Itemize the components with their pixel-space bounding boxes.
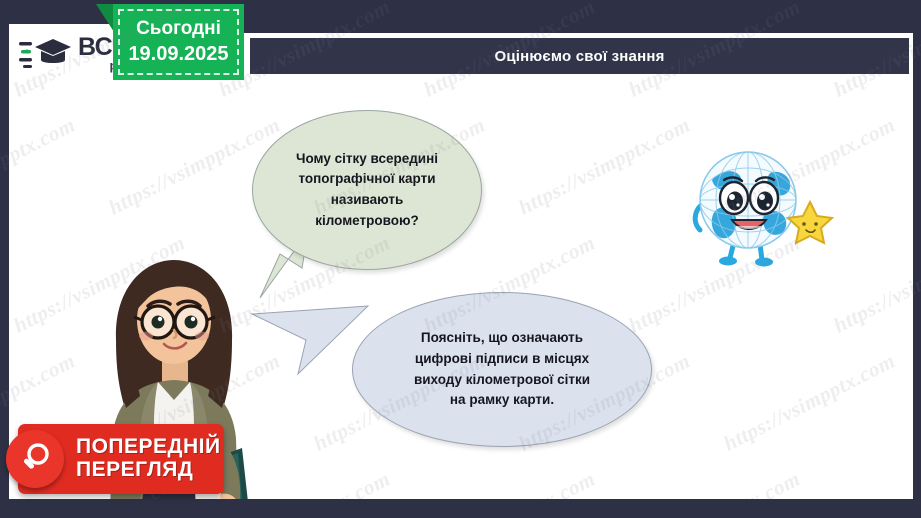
date-badge-value: 19.09.2025 — [128, 41, 228, 68]
speech-bubble-question-2: Поясніть, що означають цифрові підписи в… — [352, 292, 652, 447]
date-badge: Сьогодні 19.09.2025 — [113, 4, 244, 80]
page-title: Оцінюємо свої знання — [494, 48, 664, 65]
preview-badge-labels: ПОПЕРЕДНІЙ ПЕРЕГЛЯД — [76, 436, 221, 481]
magnifier-icon — [17, 441, 53, 477]
preview-badge-circle — [6, 430, 64, 488]
slide-title-bar: Оцінюємо свої знання — [250, 38, 909, 74]
date-badge-fold — [96, 4, 114, 32]
speech-bubble-question-1: Чому сітку всередині топографічної карти… — [252, 110, 482, 270]
preview-badge[interactable]: ПОПЕРЕДНІЙ ПЕРЕГЛЯД — [18, 424, 224, 494]
globe-character-illustration — [686, 146, 834, 268]
slide-canvas: https://vsimpptx.comhttps://vsimpptx.com… — [0, 0, 921, 518]
preview-badge-line-1: ПОПЕРЕДНІЙ — [76, 436, 221, 459]
bubble-text-question-2: Поясніть, що означають цифрові підписи в… — [388, 328, 616, 410]
bubble-text-question-1: Чому сітку всередині топографічної карти… — [270, 149, 464, 231]
date-badge-label: Сьогодні — [136, 16, 221, 42]
slide-bottom-strip — [0, 499, 921, 518]
preview-badge-line-2: ПЕРЕГЛЯД — [76, 459, 221, 482]
graduation-cap-icon — [19, 33, 73, 73]
